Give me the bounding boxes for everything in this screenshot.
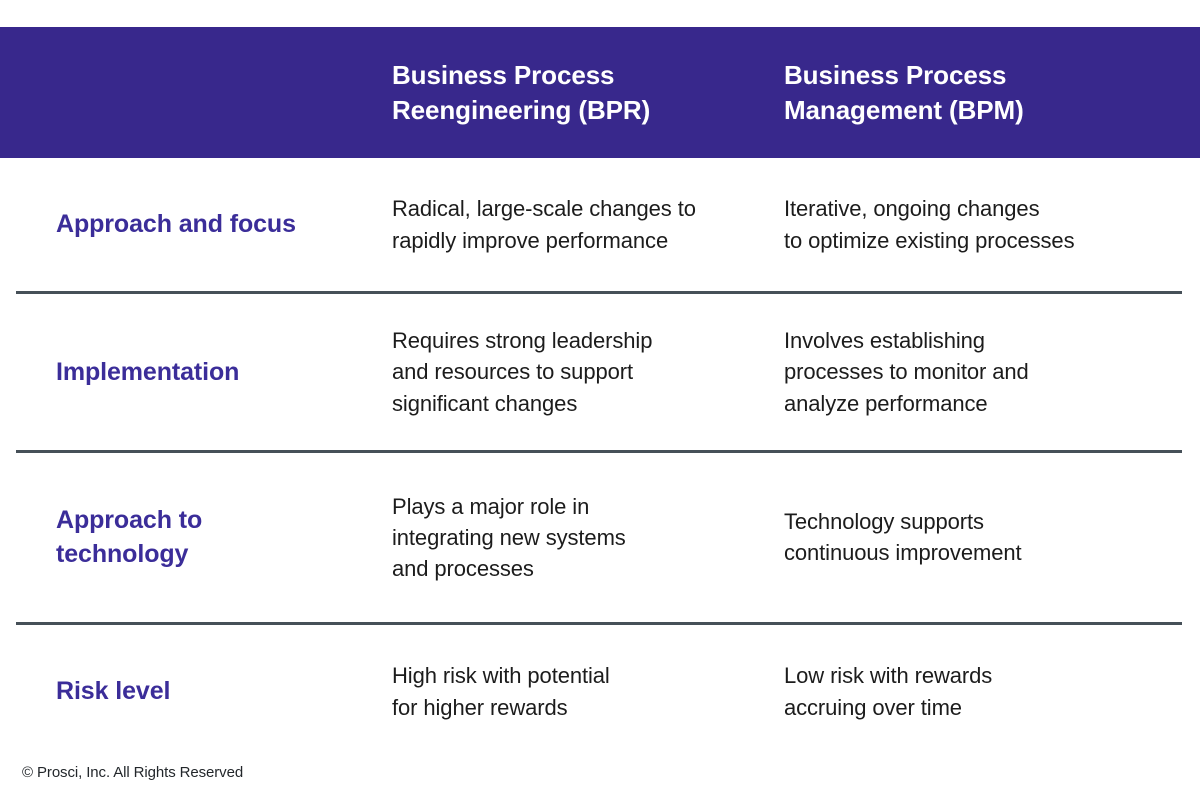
- column-header-bpm: Business Process Management (BPM): [784, 58, 1200, 127]
- table-row: Approach and focus Radical, large-scale …: [0, 158, 1200, 291]
- row-label-approach-and-focus: Approach and focus: [0, 207, 392, 242]
- row-cell-bpr: High risk with potential for higher rewa…: [392, 660, 784, 722]
- table-row: Implementation Requires strong leadershi…: [0, 294, 1200, 450]
- table-row: Risk level High risk with potential for …: [0, 625, 1200, 758]
- table-header-band: Business Process Reengineering (BPR) Bus…: [0, 27, 1200, 158]
- row-cell-bpr: Radical, large-scale changes to rapidly …: [392, 193, 784, 255]
- row-cell-bpm: Low risk with rewards accruing over time: [784, 660, 1200, 722]
- row-label-approach-to-technology: Approach to technology: [0, 503, 392, 572]
- row-cell-bpm: Involves establishing processes to monit…: [784, 325, 1200, 419]
- row-cell-bpr: Requires strong leadership and resources…: [392, 325, 784, 419]
- row-cell-bpm: Technology supports continuous improveme…: [784, 506, 1200, 568]
- comparison-table-page: Business Process Reengineering (BPR) Bus…: [0, 0, 1200, 800]
- copyright-notice: © Prosci, Inc. All Rights Reserved: [22, 764, 243, 781]
- row-cell-bpm: Iterative, ongoing changes to optimize e…: [784, 193, 1200, 255]
- table-row: Approach to technology Plays a major rol…: [0, 453, 1200, 622]
- row-label-implementation: Implementation: [0, 355, 392, 390]
- row-label-risk-level: Risk level: [0, 674, 392, 709]
- row-cell-bpr: Plays a major role in integrating new sy…: [392, 491, 784, 585]
- column-header-bpr: Business Process Reengineering (BPR): [392, 58, 784, 127]
- table-body: Approach and focus Radical, large-scale …: [0, 158, 1200, 758]
